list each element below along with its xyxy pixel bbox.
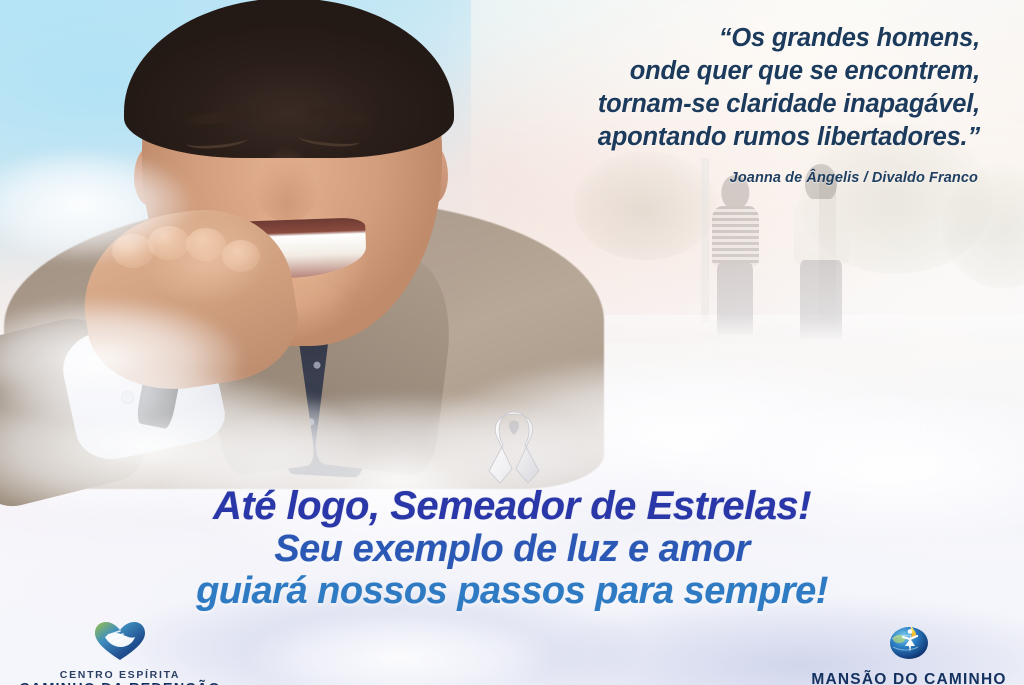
logo-centro-espirita-line-2: CAMINHO DA REDENÇÃO	[14, 681, 226, 685]
quote-attribution: Joanna de Ângelis / Divaldo Franco	[418, 170, 978, 186]
background-person-striped	[712, 175, 759, 333]
portrait-hair	[124, 0, 454, 158]
heart-with-hands-icon	[14, 620, 226, 667]
background-person-legs	[717, 263, 753, 335]
memorial-poster: “Os grandes homens, onde quer que se enc…	[0, 0, 1024, 685]
headline-line-2: Seu exemplo de luz e amor	[0, 528, 1024, 570]
quote-line-3: tornam-se claridade inapagável,	[598, 90, 980, 118]
logo-mansao-do-caminho[interactable]: MANSÃO DO CAMINHO	[804, 618, 1014, 685]
background-tree-trunk	[819, 178, 835, 329]
headline-line-3: guiará nossos passos para sempre!	[0, 570, 1024, 612]
portrait-knuckle	[186, 228, 226, 261]
background-wall	[594, 315, 1024, 349]
quote-line-2: onde quer que se encontrem,	[630, 57, 980, 85]
mourning-ribbon-icon	[479, 409, 549, 487]
quote-block: “Os grandes homens, onde quer que se enc…	[420, 22, 980, 154]
quote-line-1: “Os grandes homens,	[719, 24, 980, 52]
background-person-plain	[794, 164, 849, 335]
quote-line-4: apontando rumos libertadores.”	[598, 123, 980, 151]
portrait-knuckle	[222, 240, 260, 272]
logo-mansao-do-caminho-label: MANSÃO DO CAMINHO	[804, 671, 1014, 685]
headline-block: Até logo, Semeador de Estrelas! Seu exem…	[0, 484, 1024, 612]
background-person-torso	[712, 206, 759, 266]
cloud	[250, 612, 550, 685]
background-person-legs	[800, 260, 842, 339]
logo-centro-espirita-line-1: CENTRO ESPÍRITA	[14, 669, 226, 681]
headline-line-1: Até logo, Semeador de Estrelas!	[0, 484, 1024, 528]
logo-centro-espirita[interactable]: CENTRO ESPÍRITA CAMINHO DA REDENÇÃO	[14, 620, 226, 685]
background-person-torso	[794, 199, 849, 264]
portrait-nose	[254, 146, 320, 222]
globe-with-figure-and-flame-icon	[804, 618, 1014, 669]
portrait-knuckle	[148, 226, 190, 260]
